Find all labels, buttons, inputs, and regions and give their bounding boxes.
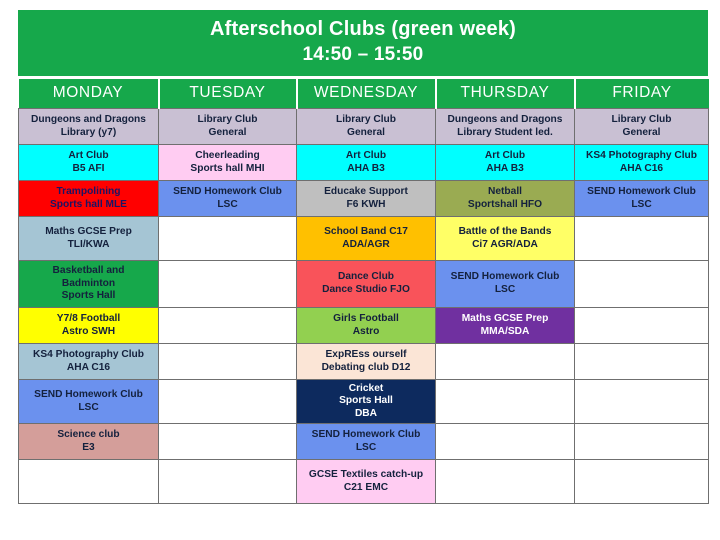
empty-slot-friday xyxy=(575,261,709,308)
club-text-line: School Band C17 xyxy=(299,226,433,239)
club-slot-wednesday[interactable]: Art ClubAHA B3 xyxy=(297,145,436,181)
club-text-line: Basketball and xyxy=(21,265,156,278)
club-slot-friday[interactable]: SEND Homework ClubLSC xyxy=(575,181,709,217)
club-text-line: AHA C16 xyxy=(577,163,706,176)
timetable-header-row: MONDAYTUESDAYWEDNESDAYTHURSDAYFRIDAY xyxy=(19,79,709,109)
club-slot-thursday[interactable]: Dungeons and DragonsLibrary Student led. xyxy=(436,109,575,145)
empty-slot-thursday xyxy=(436,460,575,504)
club-text-line: Dance Club xyxy=(299,271,433,284)
club-text-line: Cricket xyxy=(299,383,433,396)
club-slot-monday[interactable]: TrampoliningSports hall MLE xyxy=(19,181,159,217)
club-text-line: E3 xyxy=(21,442,156,455)
club-text-line: SEND Homework Club xyxy=(299,429,433,442)
club-slot-monday[interactable]: Science clubE3 xyxy=(19,424,159,460)
club-text-line: Dance Studio FJO xyxy=(299,284,433,297)
empty-slot-tuesday xyxy=(159,344,297,380)
empty-slot-friday xyxy=(575,424,709,460)
club-slot-monday[interactable]: KS4 Photography ClubAHA C16 xyxy=(19,344,159,380)
club-slot-wednesday[interactable]: Library ClubGeneral xyxy=(297,109,436,145)
club-text-line: SEND Homework Club xyxy=(161,186,294,199)
table-row: Maths GCSE PrepTLI/KWASchool Band C17ADA… xyxy=(19,217,709,261)
empty-slot-friday xyxy=(575,344,709,380)
club-text-line: DBA xyxy=(299,408,433,421)
club-text-line: Art Club xyxy=(438,150,572,163)
empty-slot-monday xyxy=(19,460,159,504)
club-slot-monday[interactable]: Maths GCSE PrepTLI/KWA xyxy=(19,217,159,261)
club-text-line: Art Club xyxy=(299,150,433,163)
table-row: SEND Homework ClubLSCCricketSports HallD… xyxy=(19,380,709,424)
empty-slot-tuesday xyxy=(159,308,297,344)
club-text-line: LSC xyxy=(438,284,572,297)
club-text-line: C21 EMC xyxy=(299,482,433,495)
club-text-line: Maths GCSE Prep xyxy=(21,226,156,239)
club-text-line: Debating club D12 xyxy=(299,362,433,375)
empty-slot-tuesday xyxy=(159,460,297,504)
club-text-line: Library (y7) xyxy=(21,127,156,140)
club-text-line: GCSE Textiles catch-up xyxy=(299,469,433,482)
empty-slot-tuesday xyxy=(159,217,297,261)
empty-slot-tuesday xyxy=(159,261,297,308)
club-text-line: KS4 Photography Club xyxy=(21,349,156,362)
title-banner: Afterschool Clubs (green week) 14:50 – 1… xyxy=(18,10,708,76)
club-text-line: ExpREss ourself xyxy=(299,349,433,362)
club-text-line: General xyxy=(577,127,706,140)
club-slot-wednesday[interactable]: Educake SupportF6 KWH xyxy=(297,181,436,217)
table-row: Science clubE3SEND Homework ClubLSC xyxy=(19,424,709,460)
club-text-line: Library Club xyxy=(577,114,706,127)
club-text-line: SEND Homework Club xyxy=(577,186,706,199)
club-text-line: Sports hall MHI xyxy=(161,163,294,176)
column-header-thursday: THURSDAY xyxy=(436,79,575,109)
club-slot-thursday[interactable]: Art ClubAHA B3 xyxy=(436,145,575,181)
club-text-line: B5 AFI xyxy=(21,163,156,176)
club-text-line: SEND Homework Club xyxy=(438,271,572,284)
club-text-line: AHA B3 xyxy=(299,163,433,176)
club-slot-wednesday[interactable]: ExpREss ourselfDebating club D12 xyxy=(297,344,436,380)
club-text-line: Trampolining xyxy=(21,186,156,199)
empty-slot-thursday xyxy=(436,424,575,460)
empty-slot-thursday xyxy=(436,344,575,380)
club-text-line: Sports Hall xyxy=(21,290,156,303)
club-slot-tuesday[interactable]: SEND Homework ClubLSC xyxy=(159,181,297,217)
club-text-line: Badminton xyxy=(21,278,156,291)
club-slot-thursday[interactable]: SEND Homework ClubLSC xyxy=(436,261,575,308)
table-row: GCSE Textiles catch-upC21 EMC xyxy=(19,460,709,504)
club-slot-tuesday[interactable]: Library ClubGeneral xyxy=(159,109,297,145)
column-header-monday: MONDAY xyxy=(19,79,159,109)
empty-slot-friday xyxy=(575,308,709,344)
table-row: KS4 Photography ClubAHA C16ExpREss ourse… xyxy=(19,344,709,380)
club-text-line: Girls Football xyxy=(299,313,433,326)
empty-slot-tuesday xyxy=(159,424,297,460)
club-slot-tuesday[interactable]: CheerleadingSports hall MHI xyxy=(159,145,297,181)
club-text-line: LSC xyxy=(577,199,706,212)
club-text-line: Library Student led. xyxy=(438,127,572,140)
club-text-line: LSC xyxy=(21,402,156,415)
club-text-line: Battle of the Bands xyxy=(438,226,572,239)
club-text-line: Educake Support xyxy=(299,186,433,199)
club-slot-thursday[interactable]: Maths GCSE PrepMMA/SDA xyxy=(436,308,575,344)
club-text-line: Sportshall HFO xyxy=(438,199,572,212)
club-text-line: General xyxy=(299,127,433,140)
title-line-1: Afterschool Clubs (green week) xyxy=(18,17,708,42)
table-row: Y7/8 FootballAstro SWHGirls FootballAstr… xyxy=(19,308,709,344)
empty-slot-friday xyxy=(575,217,709,261)
club-text-line: Maths GCSE Prep xyxy=(438,313,572,326)
club-text-line: Library Club xyxy=(161,114,294,127)
club-text-line: SEND Homework Club xyxy=(21,389,156,402)
club-slot-thursday[interactable]: Battle of the BandsCi7 AGR/ADA xyxy=(436,217,575,261)
club-slot-monday[interactable]: Basketball andBadmintonSports Hall xyxy=(19,261,159,308)
club-slot-monday[interactable]: Art ClubB5 AFI xyxy=(19,145,159,181)
club-text-line: Library Club xyxy=(299,114,433,127)
club-text-line: Ci7 AGR/ADA xyxy=(438,239,572,252)
club-text-line: MMA/SDA xyxy=(438,326,572,339)
club-text-line: Astro xyxy=(299,326,433,339)
club-text-line: ADA/AGR xyxy=(299,239,433,252)
club-text-line: Dungeons and Dragons xyxy=(438,114,572,127)
club-slot-wednesday[interactable]: Girls FootballAstro xyxy=(297,308,436,344)
club-text-line: Astro SWH xyxy=(21,326,156,339)
table-row: Art ClubB5 AFICheerleadingSports hall MH… xyxy=(19,145,709,181)
club-text-line: AHA C16 xyxy=(21,362,156,375)
club-slot-wednesday[interactable]: GCSE Textiles catch-upC21 EMC xyxy=(297,460,436,504)
club-text-line: Art Club xyxy=(21,150,156,163)
empty-slot-friday xyxy=(575,460,709,504)
club-slot-wednesday[interactable]: School Band C17ADA/AGR xyxy=(297,217,436,261)
club-text-line: Netball xyxy=(438,186,572,199)
timetable: MONDAYTUESDAYWEDNESDAYTHURSDAYFRIDAY Dun… xyxy=(18,79,709,504)
column-header-friday: FRIDAY xyxy=(575,79,709,109)
club-text-line: TLI/KWA xyxy=(21,239,156,252)
empty-slot-thursday xyxy=(436,380,575,424)
club-text-line: Science club xyxy=(21,429,156,442)
column-header-tuesday: TUESDAY xyxy=(159,79,297,109)
timetable-body: Dungeons and DragonsLibrary (y7)Library … xyxy=(19,109,709,504)
empty-slot-tuesday xyxy=(159,380,297,424)
club-slot-friday[interactable]: KS4 Photography ClubAHA C16 xyxy=(575,145,709,181)
club-slot-wednesday[interactable]: SEND Homework ClubLSC xyxy=(297,424,436,460)
club-slot-wednesday[interactable]: CricketSports HallDBA xyxy=(297,380,436,424)
club-text-line: AHA B3 xyxy=(438,163,572,176)
club-text-line: General xyxy=(161,127,294,140)
club-slot-monday[interactable]: Dungeons and DragonsLibrary (y7) xyxy=(19,109,159,145)
club-text-line: Y7/8 Football xyxy=(21,313,156,326)
club-text-line: LSC xyxy=(161,199,294,212)
title-line-2: 14:50 – 15:50 xyxy=(18,42,708,67)
club-text-line: KS4 Photography Club xyxy=(577,150,706,163)
table-row: Basketball andBadmintonSports HallDance … xyxy=(19,261,709,308)
table-row: TrampoliningSports hall MLESEND Homework… xyxy=(19,181,709,217)
column-header-wednesday: WEDNESDAY xyxy=(297,79,436,109)
club-text-line: Dungeons and Dragons xyxy=(21,114,156,127)
afterschool-clubs-timetable-page: Afterschool Clubs (green week) 14:50 – 1… xyxy=(0,0,720,540)
club-slot-thursday[interactable]: NetballSportshall HFO xyxy=(436,181,575,217)
club-slot-monday[interactable]: SEND Homework ClubLSC xyxy=(19,380,159,424)
table-row: Dungeons and DragonsLibrary (y7)Library … xyxy=(19,109,709,145)
club-slot-wednesday[interactable]: Dance ClubDance Studio FJO xyxy=(297,261,436,308)
club-text-line: F6 KWH xyxy=(299,199,433,212)
empty-slot-friday xyxy=(575,380,709,424)
club-text-line: LSC xyxy=(299,442,433,455)
club-slot-friday[interactable]: Library ClubGeneral xyxy=(575,109,709,145)
club-text-line: Sports Hall xyxy=(299,395,433,408)
club-slot-monday[interactable]: Y7/8 FootballAstro SWH xyxy=(19,308,159,344)
club-text-line: Sports hall MLE xyxy=(21,199,156,212)
club-text-line: Cheerleading xyxy=(161,150,294,163)
